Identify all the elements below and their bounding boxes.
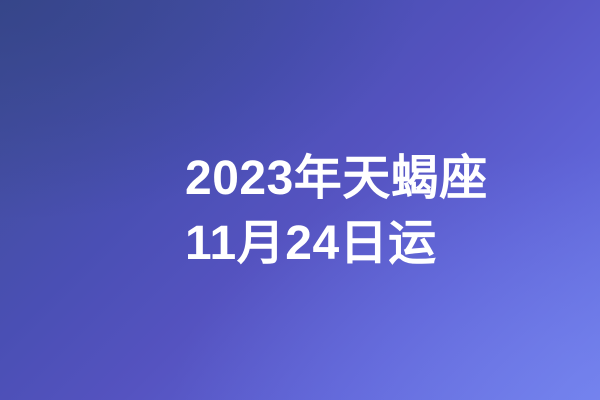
banner-title-line-1: 2023年天蝎座 [185, 146, 572, 211]
horoscope-title-banner: 2023年天蝎座 11月24日运 [0, 0, 600, 400]
banner-title-block: 2023年天蝎座 11月24日运 [185, 146, 572, 276]
banner-title-line-2: 11月24日运 [185, 211, 572, 276]
